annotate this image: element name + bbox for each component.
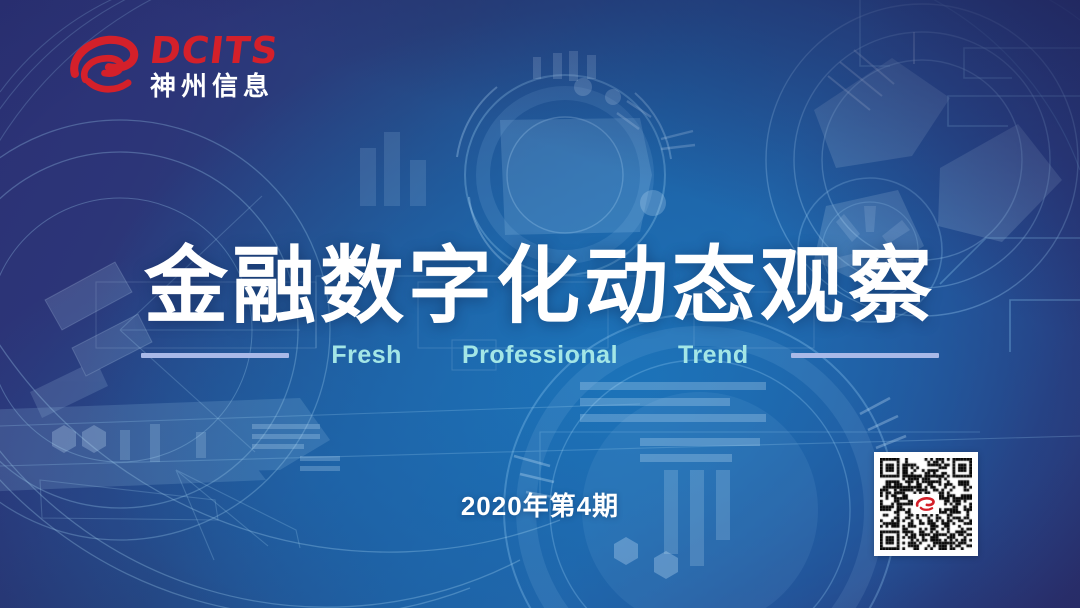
keyword-fresh: Fresh (331, 341, 402, 370)
dcits-swirl-icon (66, 28, 140, 102)
poster-title: 金融数字化动态观察 (0, 241, 1080, 332)
keyword-professional: Professional (462, 341, 618, 370)
brand-name-cn: 神州信息 (150, 73, 279, 99)
qr-code-center-logo (913, 494, 939, 514)
brand-name-en: DCITS (148, 32, 281, 69)
decorative-rule-right (791, 353, 939, 358)
brand-logo: DCITS 神州信息 (66, 28, 279, 102)
keyword-row: Fresh Professional Trend (0, 338, 1080, 372)
decorative-rule-left (141, 353, 289, 358)
brand-logo-text: DCITS 神州信息 (150, 32, 279, 99)
poster-canvas: DCITS 神州信息 金融数字化动态观察 Fresh Professional … (0, 0, 1080, 608)
keyword-trend: Trend (678, 341, 749, 370)
qr-code[interactable] (874, 452, 978, 556)
